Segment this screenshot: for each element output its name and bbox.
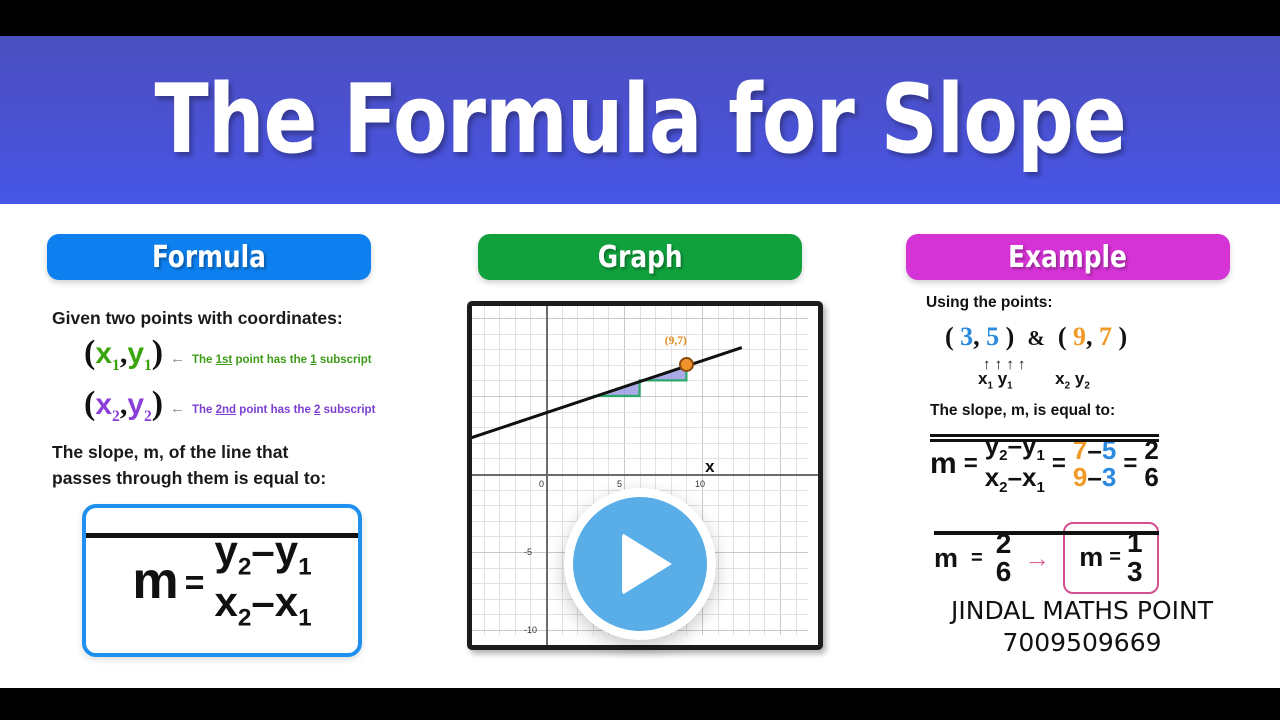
title-banner: The Formula for Slope: [0, 36, 1280, 204]
num-b-sub: 1: [298, 554, 312, 581]
den-a: x: [214, 578, 237, 625]
point1-x: x: [95, 337, 112, 370]
annot2-post: subscript: [320, 404, 375, 416]
left-arrow-icon: ←: [170, 350, 185, 367]
point2-y: y: [127, 388, 144, 421]
example-subscript-labels: x1 y1 x2 y2: [978, 369, 1090, 391]
right-arrow-icon: →: [1024, 543, 1050, 574]
ex-p2-x: 9: [1073, 322, 1086, 351]
formula-point2: (x2,y2): [84, 385, 163, 426]
ex-p2-open: (: [1058, 322, 1067, 351]
calc-f3-den: 6: [1144, 464, 1158, 491]
y-tick-label: -10: [524, 625, 537, 635]
calc-m: m: [930, 447, 957, 481]
calc-f2-den: 9–3: [1073, 464, 1116, 491]
panel-header-formula: Formula: [47, 234, 371, 280]
answer-fraction: 1 3: [1127, 529, 1143, 586]
paren-close: ): [152, 334, 163, 371]
x-tick-label: 5: [617, 479, 622, 489]
f1n-b-sub: 1: [1037, 447, 1045, 464]
ans-m: m: [1079, 542, 1103, 573]
paren-open: (: [84, 385, 95, 422]
formula-m: m: [132, 551, 178, 611]
panel-header-formula-label: Formula: [152, 240, 266, 275]
fraction-bar: [930, 434, 1159, 437]
calc-f1-den: x2–x1: [985, 464, 1045, 496]
x-tick-label: -5: [467, 479, 469, 489]
formula-fraction: y2–y1 x2–x1: [214, 530, 311, 630]
panel-header-graph-label: Graph: [598, 240, 683, 275]
fraction-bar: [934, 531, 1159, 534]
ex-p1-close: ): [1006, 322, 1015, 351]
annot2-ordinal: 2nd: [216, 404, 236, 416]
example-points: ( 3, 5 ) & ( 9, 7 ): [945, 322, 1127, 352]
slide-root: The Formula for Slope Formula Given two …: [0, 0, 1280, 720]
page-title: The Formula for Slope: [154, 65, 1125, 175]
letterbox-bottom: [0, 688, 1280, 720]
f1d-a-sub: 2: [999, 479, 1007, 496]
lbl-y1-sub: 1: [1007, 380, 1012, 391]
den-b: x: [275, 578, 298, 625]
annot1-pre: The: [192, 354, 216, 366]
f1d-minus: –: [1008, 462, 1022, 492]
f2d-b: 3: [1102, 462, 1116, 492]
letterbox-top: [0, 0, 1280, 36]
brand-phone: 7009509669: [932, 628, 1232, 657]
f1d-b: x: [1022, 462, 1036, 492]
formula-given-text: Given two points with coordinates:: [52, 308, 343, 329]
num-a-sub: 2: [238, 554, 252, 581]
example-using-label: Using the points:: [926, 294, 1053, 312]
f1d-b-sub: 1: [1037, 479, 1045, 496]
formula-point1: (x1,y1): [84, 334, 163, 375]
den-a-sub: 2: [238, 604, 252, 631]
point1-y: y: [127, 337, 144, 370]
ex-p1-y: 5: [986, 322, 999, 351]
annot2-pre: The: [192, 404, 216, 416]
annot1-post: subscript: [317, 354, 372, 366]
panel-header-graph: Graph: [478, 234, 802, 280]
panel-header-example-label: Example: [1009, 240, 1128, 275]
lbl-x2: x: [1055, 369, 1064, 388]
ex-p1-open: (: [945, 322, 954, 351]
f1d-a: x: [985, 462, 999, 492]
example-slope-label: The slope, m, is equal to:: [930, 402, 1115, 420]
answer-box: m = 1 3: [1063, 522, 1158, 594]
play-button[interactable]: [564, 488, 716, 640]
ans-eq: =: [1109, 546, 1121, 569]
lbl-y1: y: [998, 369, 1007, 388]
brand-name: JINDAL MATHS POINT: [932, 596, 1232, 625]
ex-p1-comma: ,: [973, 322, 980, 351]
left-arrow-icon: ←: [170, 400, 185, 417]
den-b-sub: 1: [298, 604, 312, 631]
lbl-x1-sub: 1: [987, 380, 992, 391]
fraction-bar: [930, 439, 1159, 442]
lbl-x2-sub: 2: [1065, 380, 1070, 391]
paren-open: (: [84, 334, 95, 371]
annot1-mid: point has the: [232, 354, 310, 366]
graph-point-label: (9,7): [665, 335, 687, 347]
calc-fraction-result: 2 6: [1144, 437, 1158, 490]
ex-p2-comma: ,: [1086, 322, 1093, 351]
formula-annotation-2: ←The 2nd point has the 2 subscript: [170, 400, 375, 417]
paren-close: ): [152, 385, 163, 422]
f2d-a: 9: [1073, 462, 1087, 492]
final-fraction: 2 6: [996, 530, 1012, 587]
x-tick-label: 0: [539, 479, 544, 489]
calc-eq1: =: [964, 450, 978, 478]
example-calculation: m = y2–y1 x2–x1 = 7–5 9–3 = 2 6: [930, 432, 1159, 495]
point2-x-sub: 2: [112, 408, 120, 425]
ans-den: 3: [1127, 558, 1143, 587]
den-minus: –: [251, 578, 274, 625]
content-stage: Formula Given two points with coordinate…: [0, 204, 1280, 688]
lbl-y2-sub: 2: [1084, 380, 1089, 391]
final-den: 6: [996, 558, 1012, 587]
calc-fraction-numeric: 7–5 9–3: [1073, 437, 1116, 490]
formula-annotation-1: ←The 1st point has the 1 subscript: [170, 350, 372, 367]
play-icon: [622, 533, 672, 595]
formula-slope-line-2: passes through them is equal to:: [52, 468, 326, 489]
x-axis-label: x: [705, 457, 714, 477]
final-eq: =: [971, 547, 983, 570]
annot2-mid: point has the: [236, 404, 314, 416]
example-final-step: m = 2 6 → m = 1 3: [934, 522, 1159, 594]
f2d-minus: –: [1087, 462, 1101, 492]
f1n-a-sub: 2: [999, 447, 1007, 464]
y-tick-label: -5: [524, 547, 532, 557]
ex-p1-x: 3: [960, 322, 973, 351]
lbl-y2: y: [1075, 369, 1084, 388]
annot1-ordinal: 1st: [216, 354, 233, 366]
point1-y-sub: 1: [144, 357, 152, 374]
panel-header-example: Example: [906, 234, 1230, 280]
formula-slope-line-1: The slope, m, of the line that: [52, 442, 288, 463]
calc-eq3: =: [1123, 450, 1137, 478]
formula-denominator: x2–x1: [214, 581, 311, 631]
ex-ampersand: &: [1027, 326, 1045, 350]
x-tick-label: 10: [695, 479, 705, 489]
point1-x-sub: 1: [112, 357, 120, 374]
calc-eq2: =: [1052, 450, 1066, 478]
final-m: m: [934, 543, 958, 574]
ex-p2-close: ): [1119, 322, 1128, 351]
ex-p2-y: 7: [1099, 322, 1112, 351]
point2-y-sub: 2: [144, 408, 152, 425]
fraction-bar: [86, 533, 358, 538]
slope-formula-box: m = y2–y1 x2–x1: [82, 504, 362, 657]
point2-x: x: [95, 388, 112, 421]
formula-equals: =: [185, 564, 205, 603]
